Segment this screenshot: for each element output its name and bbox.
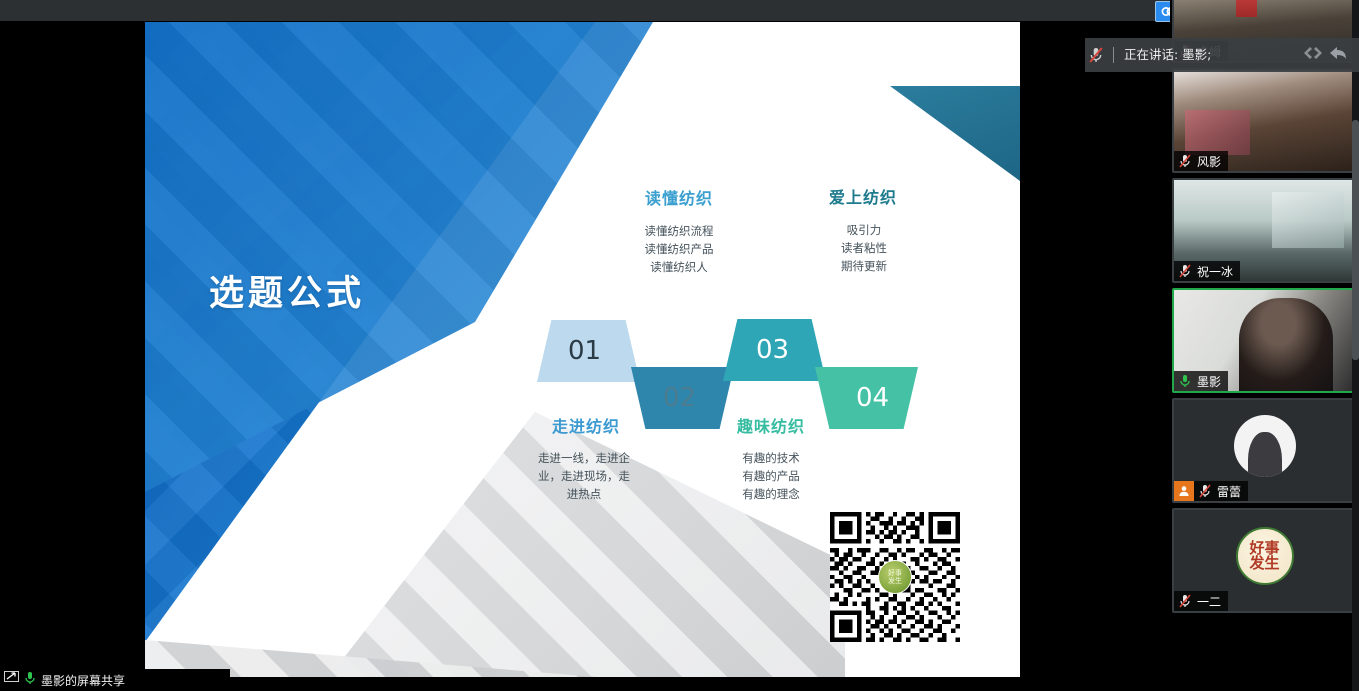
qr-center-logo: 好事 发生 bbox=[878, 560, 912, 594]
mic-muted-icon[interactable] bbox=[1174, 594, 1192, 608]
mic-muted-icon[interactable] bbox=[1174, 154, 1192, 168]
step-number-02: 02 bbox=[663, 383, 702, 413]
participant-name-chip-leilei: 雷蕾 bbox=[1174, 481, 1248, 501]
screen-share-viewport[interactable]: 选题公式 01 02 03 04 读懂纺织 读懂纺织流程 读懂纺织产品 读懂纺织… bbox=[145, 22, 1020, 677]
block-heading-1: 读懂纺织 bbox=[604, 185, 754, 209]
step-number-03: 03 bbox=[756, 335, 793, 365]
participant-strip[interactable]: 卡姆 风影 bbox=[1170, 0, 1359, 691]
block-body-1-line-1: 读懂纺织流程 bbox=[619, 222, 739, 240]
block-body-4-line-2: 有趣的产品 bbox=[711, 467, 831, 485]
host-badge-icon bbox=[1174, 481, 1194, 501]
step-number-04: 04 bbox=[844, 383, 889, 413]
mic-muted-icon[interactable] bbox=[1174, 264, 1192, 278]
block-body-3: 走进一线，走进企 业，走进现场，走 进热点 bbox=[526, 449, 642, 503]
participant-tile-yier[interactable]: 好事发生 一二 bbox=[1172, 508, 1357, 613]
slide-teal-corner-shape bbox=[890, 86, 1020, 181]
participant-name-fengying: 风影 bbox=[1192, 153, 1221, 170]
participant-tile-fengying[interactable]: 风影 bbox=[1172, 68, 1357, 173]
participant-tile-zhuyibing[interactable]: 祝一冰 bbox=[1172, 178, 1357, 283]
participant-name-leilei: 雷蕾 bbox=[1212, 483, 1241, 500]
step-shape-03: 03 bbox=[723, 319, 826, 381]
screen-share-indicator: 墨影的屏幕共享 bbox=[0, 669, 230, 691]
block-body-4-line-1: 有趣的技术 bbox=[711, 449, 831, 467]
block-heading-4: 趣味纺织 bbox=[696, 413, 846, 437]
speaking-label: 正在讲话: 墨影; bbox=[1113, 47, 1211, 63]
block-body-4-line-3: 有趣的理念 bbox=[711, 485, 831, 503]
participant-name-chip-fengying: 风影 bbox=[1174, 151, 1228, 171]
block-heading-2: 爱上纺织 bbox=[788, 184, 938, 208]
participant-name-chip-yier: 一二 bbox=[1174, 591, 1228, 611]
participant-scrollbar[interactable] bbox=[1352, 0, 1359, 691]
mic-muted-icon[interactable] bbox=[1085, 46, 1103, 64]
screen-share-label: 墨影的屏幕共享 bbox=[41, 672, 125, 689]
chevron-collapse-icon[interactable] bbox=[1303, 44, 1325, 67]
block-body-3-line-3: 进热点 bbox=[526, 485, 642, 503]
participant-tile-leilei[interactable]: 雷蕾 bbox=[1172, 398, 1357, 503]
step-number-01: 01 bbox=[568, 336, 609, 366]
participant-name-zhuyibing: 祝一冰 bbox=[1192, 263, 1233, 280]
speaking-actions bbox=[1303, 44, 1359, 67]
participant-name-chip-moying: 墨影 bbox=[1174, 371, 1228, 391]
participant-scrollbar-thumb[interactable] bbox=[1352, 120, 1359, 360]
speaking-notification[interactable]: 正在讲话: 墨影; bbox=[1085, 38, 1359, 72]
block-body-3-line-2: 业，走进现场，走 bbox=[526, 467, 642, 485]
block-body-2-line-2: 读者粘性 bbox=[804, 239, 924, 257]
block-body-4: 有趣的技术 有趣的产品 有趣的理念 bbox=[711, 449, 831, 503]
block-heading-3: 走进纺织 bbox=[511, 413, 661, 437]
block-body-1: 读懂纺织流程 读懂纺织产品 读懂纺织人 bbox=[619, 222, 739, 276]
participant-tile-moying[interactable]: 墨影 bbox=[1172, 288, 1357, 393]
return-arrow-icon[interactable] bbox=[1329, 44, 1349, 67]
participant-name-moying: 墨影 bbox=[1192, 373, 1221, 390]
presentation-slide: 选题公式 01 02 03 04 读懂纺织 读懂纺织流程 读懂纺织产品 读懂纺织… bbox=[145, 22, 1020, 677]
participant-name-chip-zhuyibing: 祝一冰 bbox=[1174, 261, 1240, 281]
slide-title: 选题公式 bbox=[209, 265, 365, 316]
mic-on-icon[interactable] bbox=[1174, 374, 1192, 388]
qr-code: 好事 发生 bbox=[830, 512, 960, 642]
block-body-2: 吸引力 读者粘性 期待更新 bbox=[804, 221, 924, 275]
participant-name-yier: 一二 bbox=[1192, 593, 1221, 610]
block-body-2-line-3: 期待更新 bbox=[804, 257, 924, 275]
avatar bbox=[1234, 415, 1296, 477]
block-body-3-line-1: 走进一线，走进企 bbox=[526, 449, 642, 467]
avatar: 好事发生 bbox=[1236, 527, 1294, 585]
block-body-1-line-3: 读懂纺织人 bbox=[619, 258, 739, 276]
qr-logo-line-1: 好事 bbox=[888, 569, 902, 577]
block-body-2-line-1: 吸引力 bbox=[804, 221, 924, 239]
mic-muted-icon[interactable] bbox=[1194, 484, 1212, 498]
block-body-1-line-2: 读懂纺织产品 bbox=[619, 240, 739, 258]
screen-share-icon bbox=[4, 671, 19, 689]
qr-logo-line-2: 发生 bbox=[888, 577, 902, 585]
meeting-window: 拖拽上传 选题公式 01 02 03 04 读懂纺织 bbox=[0, 0, 1359, 691]
mic-on-icon bbox=[24, 671, 36, 690]
step-shape-01: 01 bbox=[537, 320, 640, 382]
